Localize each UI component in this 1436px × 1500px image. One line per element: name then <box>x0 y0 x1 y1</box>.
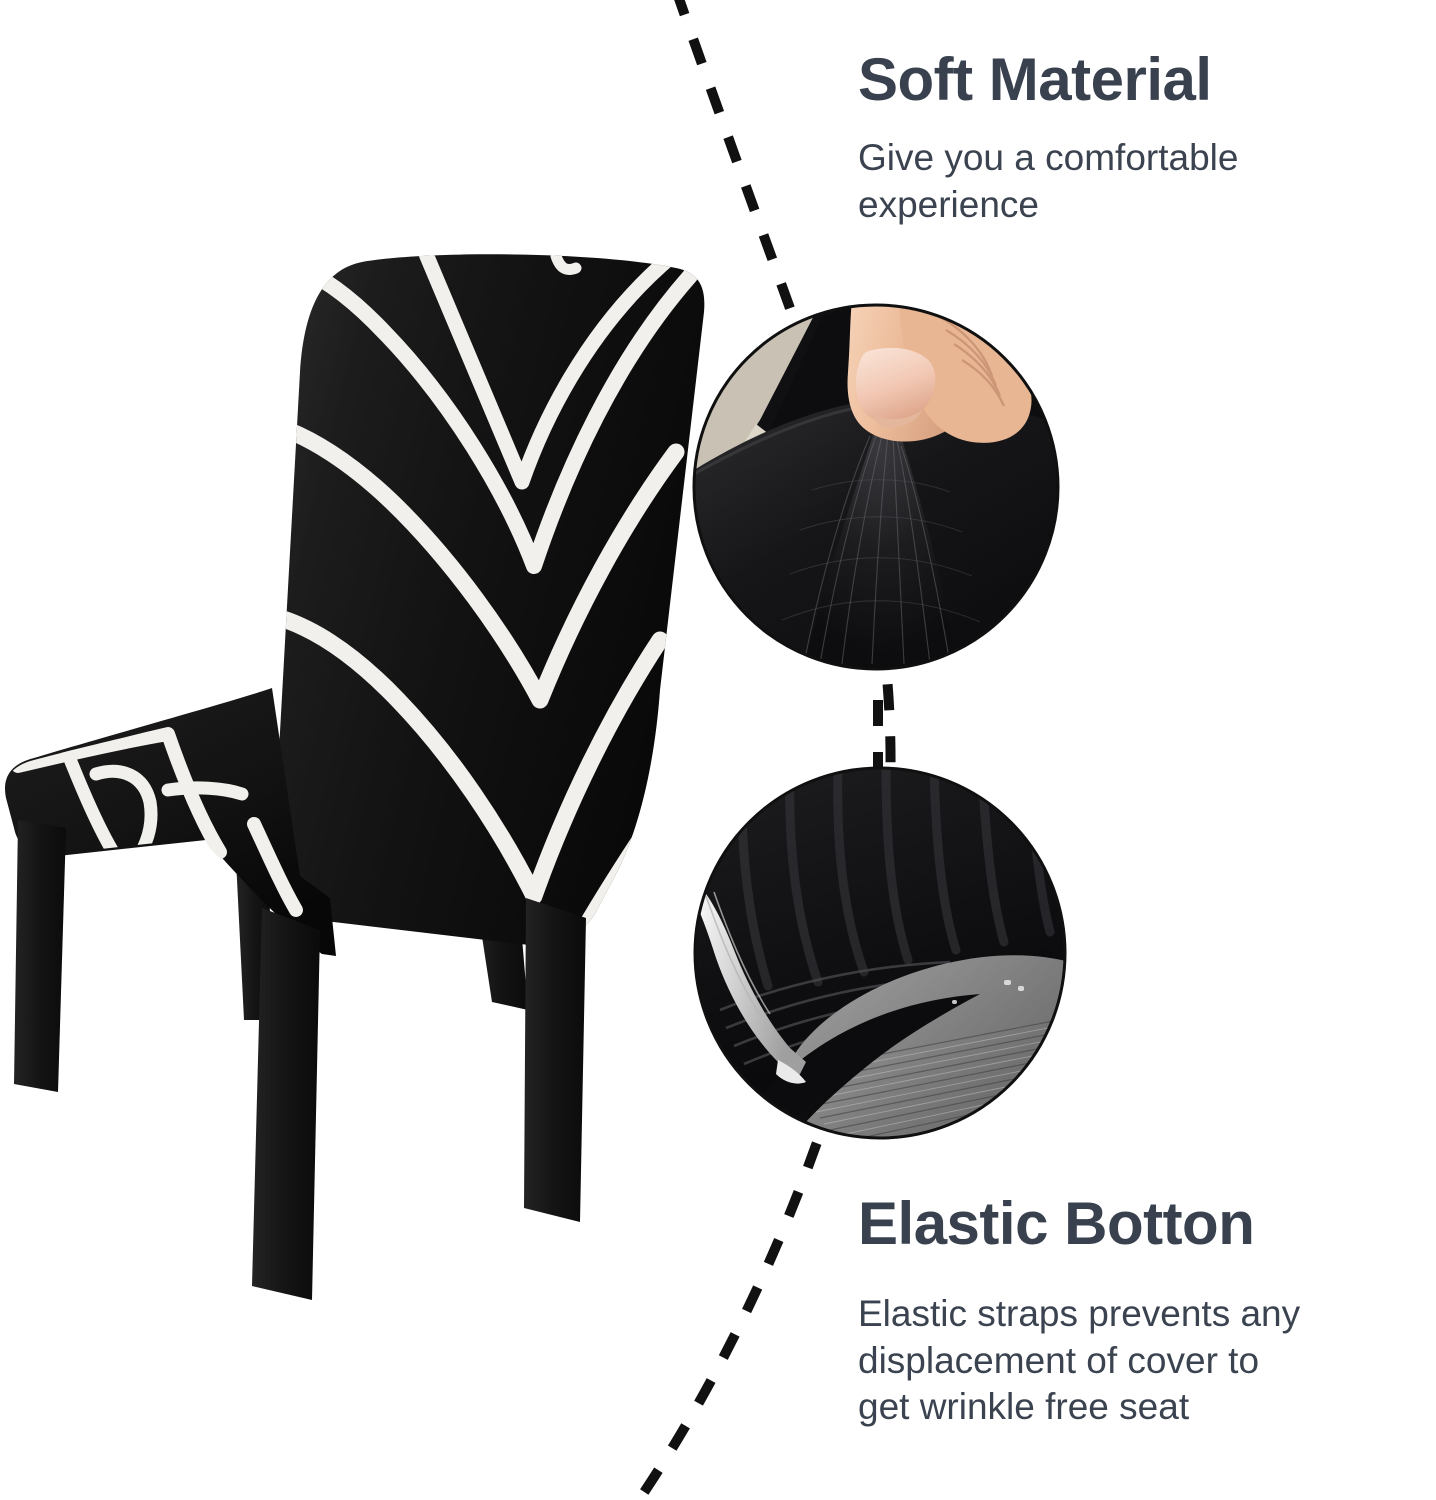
infographic-canvas: Soft Material Give you a comfortable exp… <box>0 0 1436 1500</box>
feature-elastic-botton: Elastic Botton Elastic straps prevents a… <box>858 1190 1428 1431</box>
soft-material-description-line-1: Give you a comfortable <box>858 135 1418 182</box>
elastic-botton-description-line-3: get wrinkle free seat <box>858 1384 1428 1431</box>
feature-soft-material: Soft Material Give you a comfortable exp… <box>858 46 1418 228</box>
soft-material-headline: Soft Material <box>858 46 1418 113</box>
soft-material-description: Give you a comfortable experience <box>858 135 1418 228</box>
elastic-botton-description-line-2: displacement of cover to <box>858 1338 1428 1385</box>
elastic-botton-headline: Elastic Botton <box>858 1190 1428 1257</box>
elastic-botton-description-line-1: Elastic straps prevents any <box>858 1291 1428 1338</box>
elastic-botton-description: Elastic straps prevents any displacement… <box>858 1291 1428 1431</box>
soft-material-description-line-2: experience <box>858 182 1418 229</box>
